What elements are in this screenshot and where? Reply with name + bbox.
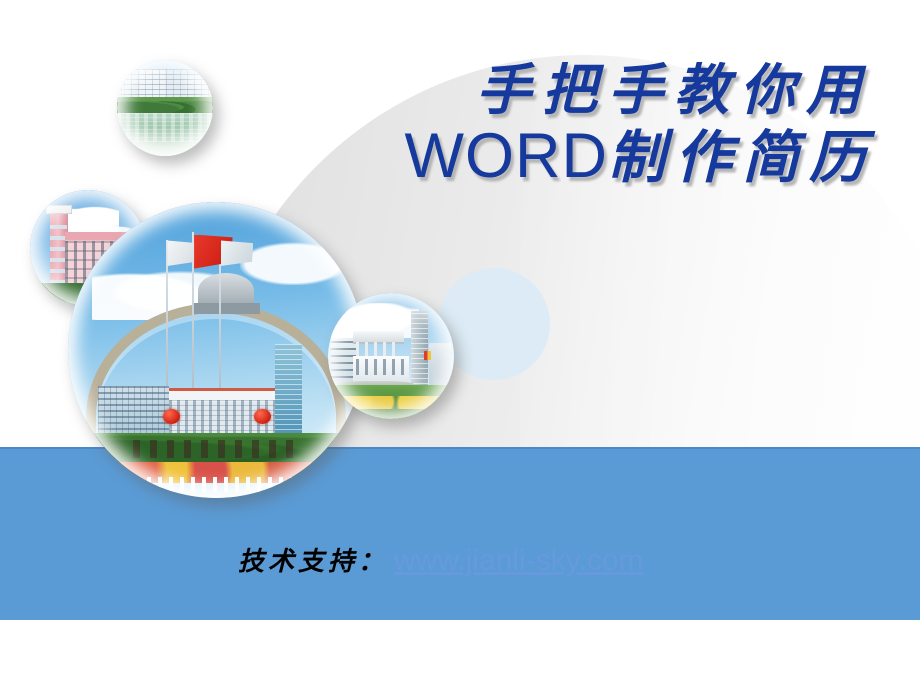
slide-title: 手把手教你用 WORD制作简历	[300, 62, 900, 188]
canopy-columns	[356, 342, 401, 357]
school-name-plaque	[133, 440, 299, 458]
tech-support-link[interactable]: www.jianli-sky.com	[394, 544, 643, 577]
presentation-slide: 手把手教你用 WORD制作简历 技术支持：www.jianli-sky.com	[0, 0, 920, 690]
campus-gate-scene	[68, 202, 364, 498]
glass-tower-windows	[275, 344, 302, 439]
title-word-word: WORD	[405, 121, 608, 191]
modern-building-scene	[328, 293, 454, 419]
observatory-base	[192, 303, 260, 315]
white-fence	[92, 477, 341, 492]
photo-bubble-modern-building	[328, 293, 454, 419]
title-line-two-chinese: 制作简历	[608, 124, 876, 191]
slide-bottom-margin	[0, 620, 920, 690]
background-accent-circle	[438, 268, 550, 380]
campus-lake-scene	[117, 60, 213, 156]
left-block-windows	[331, 341, 356, 381]
lawn-flowers	[328, 396, 454, 409]
title-line-two: WORD制作简历	[300, 124, 900, 188]
center-block-windows	[356, 359, 406, 375]
wall-sign	[424, 351, 432, 360]
right-block	[429, 343, 452, 386]
title-line-one: 手把手教你用	[300, 62, 900, 118]
tech-support-credit: 技术支持：www.jianli-sky.com	[238, 541, 644, 578]
tech-support-label: 技术支持：	[238, 547, 388, 577]
water-reflection	[117, 113, 213, 142]
tree-line	[117, 97, 213, 113]
photo-bubble-campus-gate	[68, 202, 364, 498]
photo-bubble-campus-lake	[117, 60, 213, 156]
red-lantern-left	[163, 409, 180, 424]
elevator-tower-windows	[411, 313, 427, 384]
cloud-right	[240, 238, 358, 285]
